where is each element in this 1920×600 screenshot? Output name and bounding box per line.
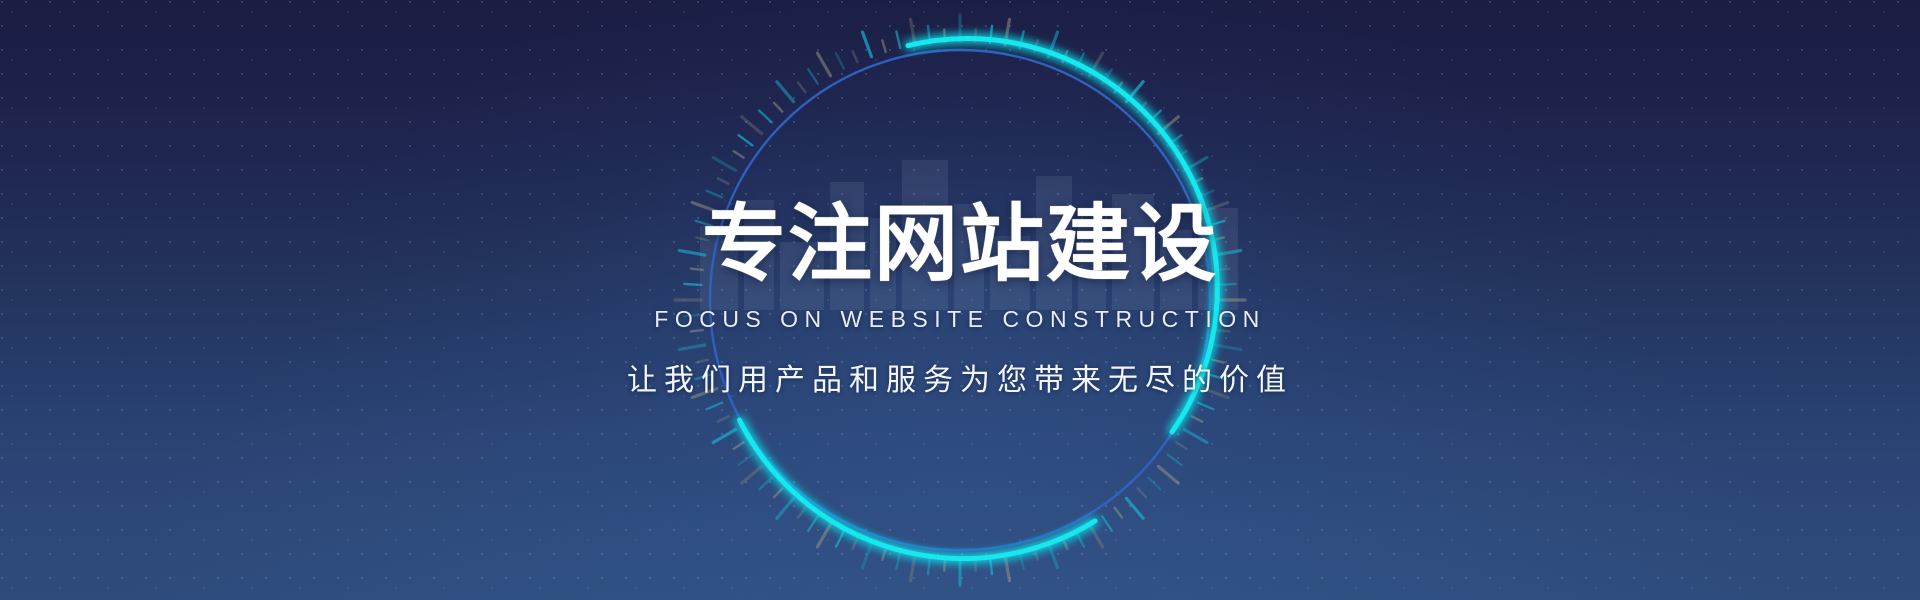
banner-tagline: 让我们用产品和服务为您带来无尽的价值: [627, 355, 1293, 399]
page-title: 专注网站建设: [702, 202, 1218, 286]
banner-content: 专注网站建设 FOCUS ON WEBSITE CONSTRUCTION 让我们…: [0, 0, 1920, 600]
hero-banner: 专注网站建设 FOCUS ON WEBSITE CONSTRUCTION 让我们…: [0, 0, 1920, 600]
banner-subheadline: FOCUS ON WEBSITE CONSTRUCTION: [654, 306, 1265, 333]
